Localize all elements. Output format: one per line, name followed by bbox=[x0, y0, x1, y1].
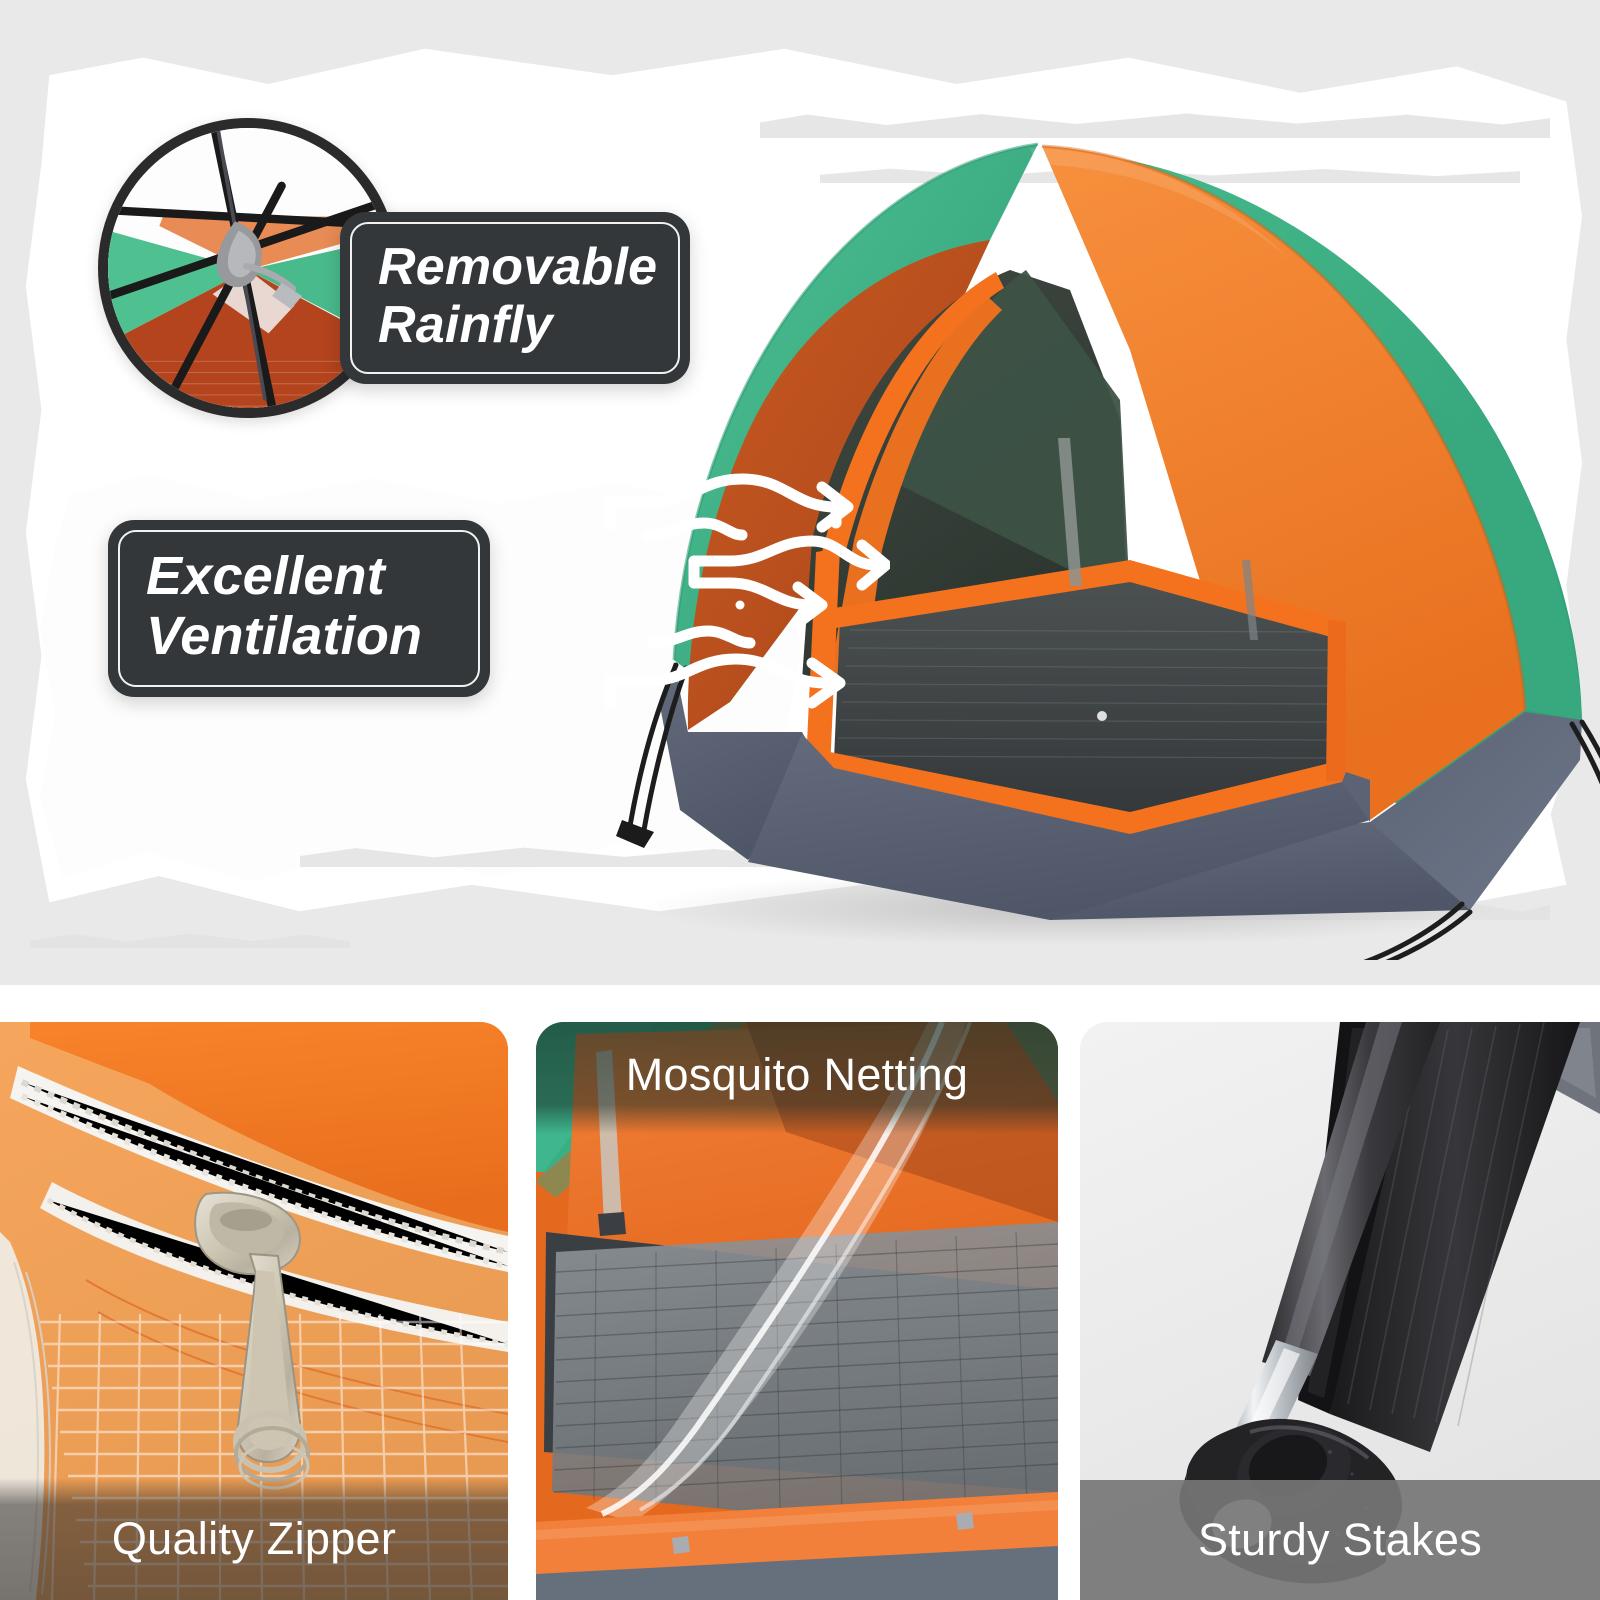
caption-text: Sturdy Stakes bbox=[1198, 1514, 1482, 1566]
badge-excellent-ventilation[interactable]: Excellent Ventilation bbox=[108, 520, 490, 697]
feature-cards-row: Quality Zipper bbox=[0, 985, 1600, 1600]
feature-caption: Mosquito Netting bbox=[536, 1022, 1058, 1134]
brush-streak bbox=[30, 930, 350, 948]
badge-inner-border: Excellent Ventilation bbox=[118, 530, 480, 687]
badge-label: Removable Rainfly bbox=[378, 238, 652, 354]
feature-card-mosquito-netting[interactable]: Mosquito Netting bbox=[536, 1022, 1058, 1600]
badge-removable-rainfly[interactable]: Removable Rainfly bbox=[340, 212, 690, 384]
hero-section: Removable Rainfly Excellent Ventilation bbox=[0, 0, 1600, 985]
badge-label: Excellent Ventilation bbox=[146, 546, 452, 667]
caption-text: Mosquito Netting bbox=[626, 1049, 968, 1101]
feature-caption: Sturdy Stakes bbox=[1080, 1480, 1600, 1600]
feature-card-quality-zipper[interactable]: Quality Zipper bbox=[0, 1022, 508, 1600]
badge-inner-border: Removable Rainfly bbox=[350, 222, 680, 374]
feature-card-sturdy-stakes[interactable]: Sturdy Stakes bbox=[1080, 1022, 1600, 1600]
feature-caption: Quality Zipper bbox=[0, 1478, 508, 1600]
caption-text: Quality Zipper bbox=[112, 1513, 396, 1565]
